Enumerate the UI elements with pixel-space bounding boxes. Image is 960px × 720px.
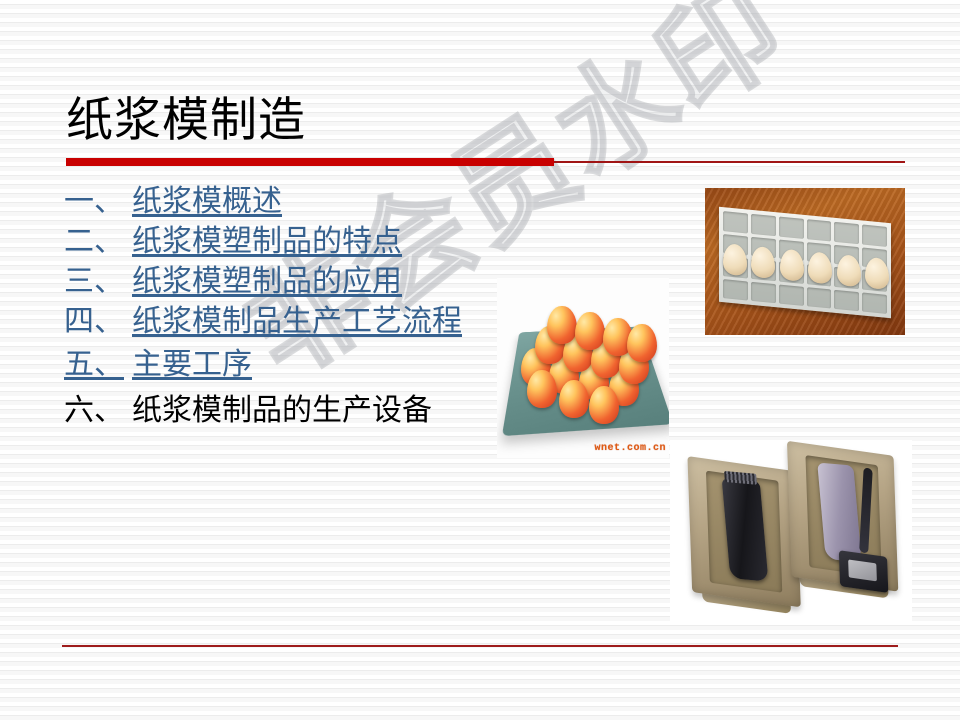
image-source-watermark: wnet.com.cn: [594, 443, 666, 454]
agenda-item-2[interactable]: 二、 纸浆模塑制品的特点: [64, 222, 534, 262]
agenda-item-5-label[interactable]: 主要工序: [132, 342, 252, 388]
photo-egg-tray: [705, 188, 905, 335]
agenda-item-4-number: 四、: [64, 302, 132, 342]
agenda-item-1-label[interactable]: 纸浆模概述: [132, 182, 282, 222]
power-adapter: [839, 550, 889, 593]
agenda-item-3-label[interactable]: 纸浆模塑制品的应用: [132, 262, 402, 302]
agenda-item-6-label: 纸浆模制品的生产设备: [132, 388, 432, 434]
page-title: 纸浆模制造: [66, 94, 306, 148]
footer-divider: [62, 645, 898, 647]
title-divider: [66, 158, 905, 166]
pulp-package-body: [683, 448, 900, 607]
agenda-list: 一、 纸浆模概述 二、 纸浆模塑制品的特点 三、 纸浆模塑制品的应用 四、 纸浆…: [64, 182, 534, 434]
agenda-item-2-label[interactable]: 纸浆模塑制品的特点: [132, 222, 402, 262]
agenda-item-2-number: 二、: [64, 222, 132, 262]
agenda-item-1-number: 一、: [64, 182, 132, 222]
title-divider-thick-bar: [66, 158, 554, 166]
agenda-item-6-number: 六、: [64, 388, 132, 434]
agenda-item-4-label[interactable]: 纸浆模制品生产工艺流程: [132, 302, 462, 342]
slide-canvas: 非会员水印 纸浆模制造 一、 纸浆模概述 二、 纸浆模塑制品的特点 三、 纸浆模…: [0, 0, 960, 720]
agenda-item-3-number: 三、: [64, 262, 132, 302]
agenda-item-4[interactable]: 四、 纸浆模制品生产工艺流程: [64, 302, 534, 342]
agenda-item-5[interactable]: 五、 主要工序: [64, 342, 534, 388]
photo-peach-tray: wnet.com.cn: [497, 278, 669, 458]
agenda-item-5-number: 五、: [64, 342, 132, 388]
agenda-item-3[interactable]: 三、 纸浆模塑制品的应用: [64, 262, 534, 302]
agenda-item-6: 六、 纸浆模制品的生产设备: [64, 388, 534, 434]
peach-group: [517, 300, 653, 424]
agenda-item-1[interactable]: 一、 纸浆模概述: [64, 182, 534, 222]
photo-clipper-packaging: [670, 440, 912, 622]
